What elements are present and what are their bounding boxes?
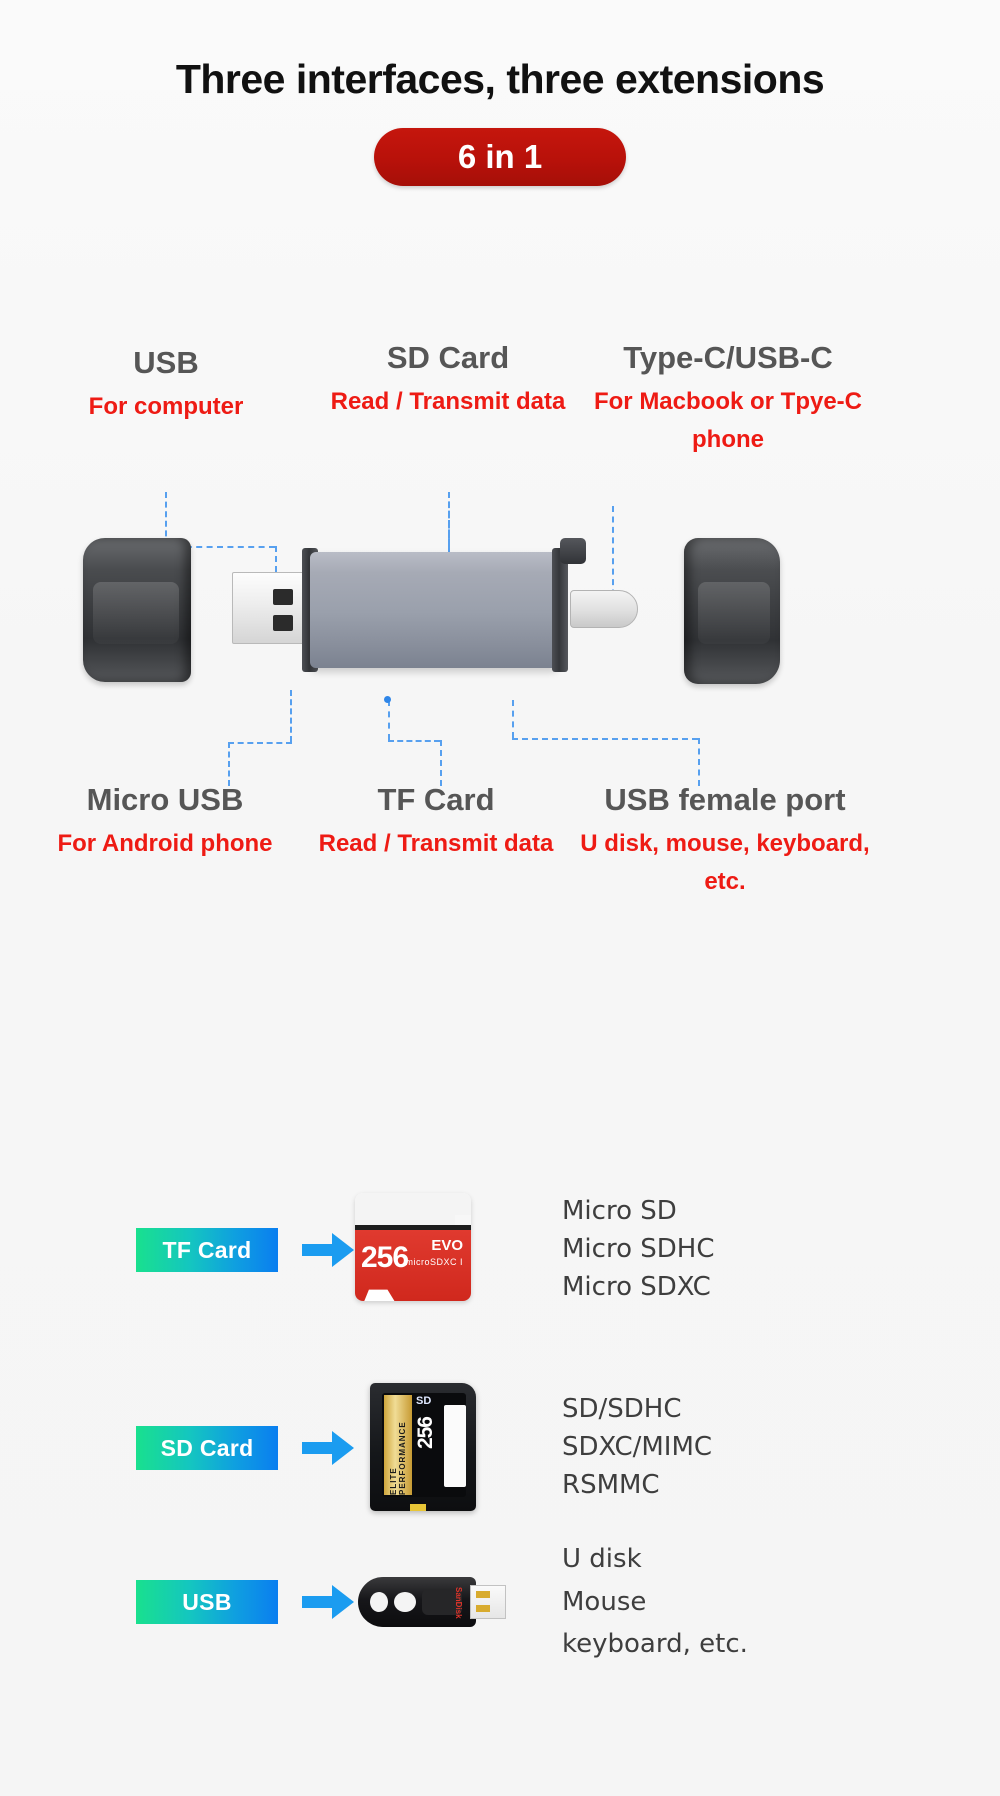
usb-drive-pin-top (476, 1591, 490, 1598)
sd-card-brand-label: ELITE PERFORMANCE (384, 1395, 412, 1495)
callout-usb: USB For computer (48, 345, 284, 426)
arrow-right-icon (302, 1233, 354, 1267)
callout-type-c: Type-C/USB-C For Macbook or Tpye-C phone (580, 340, 876, 459)
usb-a-slot-bottom (273, 615, 293, 631)
microsd-brand-label: EVO (431, 1237, 463, 1254)
microsd-card-art: 256 EVO microSDXC I (355, 1193, 471, 1301)
leader-line-usbfemale-horizontal (512, 738, 698, 740)
leader-line-tf-up (388, 700, 390, 740)
callout-micro-usb: Micro USB For Android phone (30, 782, 300, 863)
usb-drive-lanyard-hole (370, 1592, 388, 1612)
usb-flash-drive-art: SanDisk (358, 1575, 508, 1629)
callout-micro-usb-title: Micro USB (30, 782, 300, 819)
arrow-right-icon (302, 1585, 354, 1619)
microsd-capacity-label: 256 (361, 1241, 408, 1275)
leader-line-usbfemale-drop (698, 738, 700, 786)
compat-support-usb: U disk Mouse keyboard, etc. (562, 1538, 748, 1667)
microsd-top-strip (355, 1193, 471, 1227)
callout-usb-title: USB (48, 345, 284, 382)
leader-line-microusb-drop (228, 742, 230, 786)
body-top-nub (560, 538, 586, 564)
compatibility-list: TF Card 256 EVO microSDXC I Micro SD Mic… (0, 1175, 1000, 1667)
callout-sd-card-desc: Read / Transmit data (322, 383, 574, 421)
sd-card-capacity-label: 256 (414, 1417, 438, 1449)
usb-drive-brand-label: SanDisk (454, 1587, 463, 1619)
arrow-right-icon (302, 1431, 354, 1465)
usb-drive-pin-bottom (476, 1605, 490, 1612)
infographic-page: Three interfaces, three extensions 6 in … (0, 0, 1000, 1796)
sd-card-logo: SD (416, 1395, 431, 1407)
callout-type-c-title: Type-C/USB-C (580, 340, 876, 377)
callout-micro-usb-desc: For Android phone (30, 825, 300, 863)
compat-row-tf-card: TF Card 256 EVO microSDXC I Micro SD Mic… (0, 1175, 1000, 1325)
leader-line-microusb-horizontal (228, 742, 292, 744)
usb-a-slot-top (273, 589, 293, 605)
microsd-divider (355, 1225, 471, 1230)
compat-support-tf-card: Micro SD Micro SDHC Micro SDXC (562, 1193, 714, 1306)
badge-sd-card: SD Card (136, 1426, 278, 1470)
badge-tf-card: TF Card (136, 1228, 278, 1272)
body-edge-right (552, 548, 568, 672)
sd-card-contact-tab (410, 1504, 426, 1511)
callout-type-c-desc: For Macbook or Tpye-C phone (580, 383, 876, 460)
sd-card-white-panel (444, 1405, 466, 1487)
callout-usb-female-port-title: USB female port (560, 782, 890, 819)
six-in-one-badge: 6 in 1 (374, 128, 626, 186)
sd-card-art: ELITE PERFORMANCE SD 256 (370, 1383, 476, 1511)
leader-line-usbfemale-up (512, 700, 514, 738)
compat-row-usb: USB SanDisk U disk Mouse keyboard, etc. (0, 1537, 1000, 1667)
callout-tf-card-desc: Read / Transmit data (318, 825, 554, 863)
compat-support-sd-card: SD/SDHC SDXC/MIMC RSMMC (562, 1391, 712, 1504)
usb-drive-thumb-hole (394, 1592, 416, 1612)
callout-usb-female-port: USB female port U disk, mouse, keyboard,… (560, 782, 890, 901)
leader-dot-tf (384, 696, 391, 703)
leader-line-microusb-up (290, 690, 292, 742)
page-title: Three interfaces, three extensions (0, 56, 1000, 103)
type-c-male-connector (570, 590, 638, 628)
card-reader-illustration (0, 520, 1000, 720)
callout-usb-desc: For computer (48, 388, 284, 426)
callout-sd-card: SD Card Read / Transmit data (322, 340, 574, 421)
right-protective-cap (684, 538, 780, 684)
callout-tf-card: TF Card Read / Transmit data (318, 782, 554, 863)
reader-main-body (310, 552, 558, 668)
callout-usb-female-port-desc: U disk, mouse, keyboard, etc. (560, 825, 890, 902)
compat-row-sd-card: SD Card ELITE PERFORMANCE SD 256 SD/SDHC… (0, 1373, 1000, 1523)
badge-usb: USB (136, 1580, 278, 1624)
leader-line-tf-drop (440, 740, 442, 786)
callout-sd-card-title: SD Card (322, 340, 574, 377)
left-protective-cap (83, 538, 191, 682)
microsd-spec-label: microSDXC I (405, 1257, 463, 1267)
callout-tf-card-title: TF Card (318, 782, 554, 819)
leader-line-tf-horizontal (388, 740, 440, 742)
